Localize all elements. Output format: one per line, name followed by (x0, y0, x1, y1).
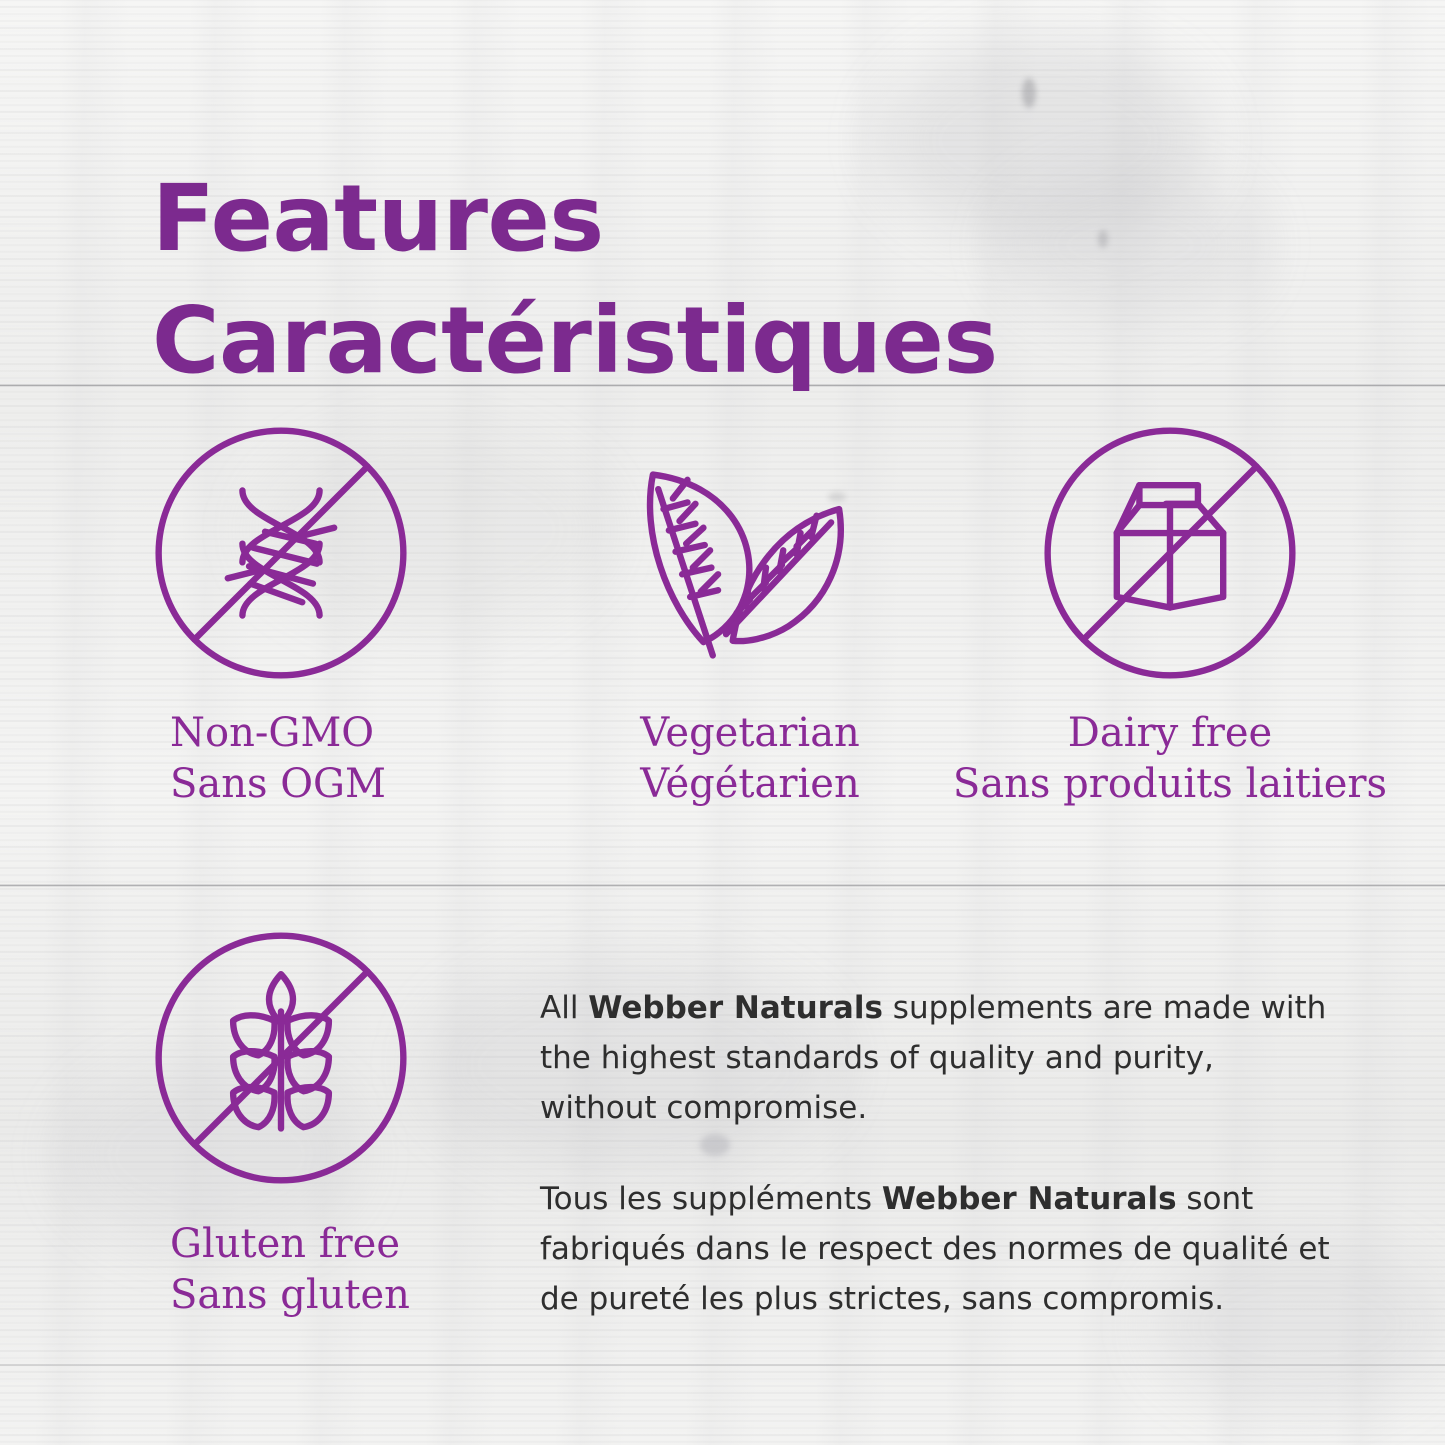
paragraph-en: All Webber Naturals supplements are made… (540, 983, 1330, 1134)
feature-label-en: Dairy free (1068, 710, 1272, 756)
page-title-en: Features (152, 165, 604, 272)
no-wheat-icon (148, 925, 414, 1191)
feature-non-gmo[interactable]: Non-GMO Sans OGM (148, 420, 448, 810)
feature-label-gluten-free: Gluten free Sans gluten (170, 1219, 410, 1321)
brand-name-fr: Webber Naturals (882, 1181, 1177, 1217)
page-title-fr: Caractéristiques (152, 280, 1302, 402)
paragraph-en-before: All (540, 990, 588, 1026)
feature-label-non-gmo: Non-GMO Sans OGM (170, 708, 386, 810)
feature-label-vegetarian: Vegetarian Végétarien (640, 708, 860, 810)
body-copy: All Webber Naturals supplements are made… (540, 983, 1330, 1324)
feature-label-en: Gluten free (170, 1221, 400, 1267)
feature-label-en: Non-GMO (170, 710, 374, 756)
brand-name-en: Webber Naturals (588, 990, 883, 1026)
paragraph-fr: Tous les suppléments Webber Naturals son… (540, 1174, 1330, 1325)
feature-label-fr: Végétarien (640, 759, 860, 810)
feature-label-dairy-free: Dairy free Sans produits laitiers (953, 708, 1387, 810)
no-dna-icon (148, 420, 414, 686)
page-title: Features Caractéristiques (152, 158, 1302, 403)
features-panel: Features Caractéristiques (0, 0, 1445, 1445)
feature-label-fr: Sans OGM (170, 759, 386, 810)
feature-dairy-free[interactable]: Dairy free Sans produits laitiers (1020, 420, 1320, 810)
no-milk-carton-icon (1037, 420, 1303, 686)
plank-seam-2 (0, 884, 1445, 887)
plank-seam-3 (0, 1364, 1445, 1366)
feature-vegetarian[interactable]: Vegetarian Végétarien (600, 420, 900, 810)
leaves-icon (617, 420, 883, 686)
feature-label-en: Vegetarian (640, 710, 860, 756)
feature-gluten-free[interactable]: Gluten free Sans gluten (148, 925, 458, 1321)
feature-label-fr: Sans gluten (170, 1270, 410, 1321)
feature-label-fr: Sans produits laitiers (953, 759, 1387, 810)
wood-knot (1022, 78, 1036, 108)
paragraph-fr-before: Tous les suppléments (540, 1181, 882, 1217)
